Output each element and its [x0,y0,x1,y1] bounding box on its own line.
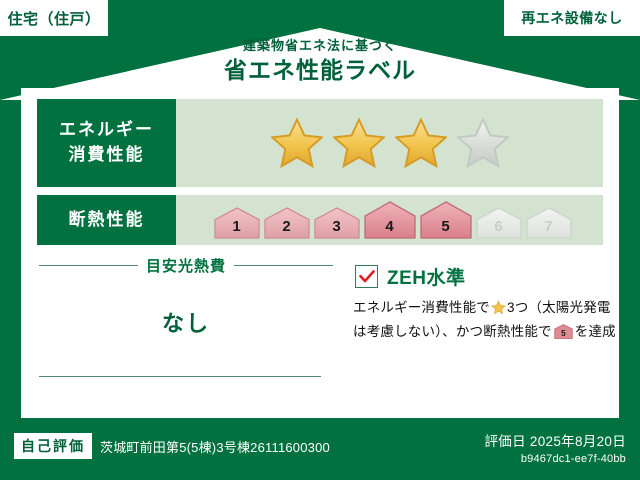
building-type-tab: 住宅（住戸） [0,0,108,36]
star-filled-icon [271,117,323,169]
star-filled-icon [395,117,447,169]
insulation-level-1: 1 [213,206,261,240]
energy-key-line1: エネルギー [59,118,154,143]
evaluation-date: 評価日 2025年8月20日 [484,430,626,450]
property-address: 茨城町前田第5(5棟)3号棟26111600300 [100,437,330,456]
zeh-checkbox[interactable] [355,265,378,288]
insulation-performance-row: 断熱性能 1234567 [37,195,603,245]
svg-text:5: 5 [561,329,566,338]
footer: 自己評価 茨城町前田第5(5棟)3号棟26111600300 評価日 2025年… [0,422,640,480]
energy-performance-label: 住宅（住戸） 再エネ設備なし 建築物省エネ法に基づく 省エネ性能ラベル エネルギ… [0,0,640,480]
insulation-level-7: 7 [525,206,573,240]
insulation-level-number: 4 [363,218,417,235]
insulation-level-number: 2 [263,218,311,235]
insulation-level-2: 2 [263,206,311,240]
inline-house-chip: 5 [554,324,573,346]
footer-right: 評価日 2025年8月20日 b9467dc1-ee7f-40bb [484,430,626,465]
utility-cost-value: なし [21,306,351,338]
insulation-level-number: 6 [475,218,523,235]
zeh-description: エネルギー消費性能で3つ（太陽光発電 は考慮しない）、かつ断熱性能で5を達成 [353,298,617,346]
inline-star-icon [491,303,506,318]
heading-rule-right [234,265,333,266]
insulation-level-6: 6 [475,206,523,240]
heading-rule-left [39,265,138,266]
zeh-desc-part3: を達成 [575,324,616,339]
utility-cost-bottom-rule [39,376,321,377]
zeh-desc-part1: エネルギー消費性能で [353,300,490,315]
insulation-level-5: 5 [419,200,473,240]
insulation-level-number: 5 [419,218,473,235]
star-filled-icon [333,117,385,169]
utility-cost-title: 目安光熱費 [146,255,226,276]
star-empty-icon [457,117,509,169]
insulation-level-3: 3 [313,206,361,240]
star-list [271,117,509,169]
lower-section: 目安光熱費 なし ZEH水準 エネルギー消費性能で3つ（太陽光発電 [21,251,619,401]
utility-cost-block: 目安光熱費 なし [21,251,351,401]
evaluation-id: b9467dc1-ee7f-40bb [484,453,626,465]
zeh-desc-part2: は考慮しない）、かつ断熱性能で [353,324,552,339]
energy-star-rating [176,99,603,187]
energy-performance-label-key: エネルギー 消費性能 [37,99,176,187]
insulation-performance-label-key: 断熱性能 [37,195,176,245]
energy-key-line2: 消費性能 [69,143,145,168]
insulation-scale: 1234567 [176,195,603,245]
insulation-level-4: 4 [363,200,417,240]
utility-cost-heading: 目安光熱費 [39,255,333,276]
self-evaluation-badge: 自己評価 [14,433,92,459]
footer-left: 自己評価 茨城町前田第5(5棟)3号棟26111600300 [14,433,330,459]
label-panel: エネルギー 消費性能 断熱性能 1234567 目安光熱費 なし [21,88,619,418]
insulation-level-number: 1 [213,218,261,235]
insulation-level-number: 7 [525,218,573,235]
energy-performance-row: エネルギー 消費性能 [37,99,603,187]
zeh-block: ZEH水準 エネルギー消費性能で3つ（太陽光発電 は考慮しない）、かつ断熱性能で… [351,251,619,401]
insulation-level-number: 3 [313,218,361,235]
zeh-heading: ZEH水準 [355,263,619,290]
zeh-title: ZEH水準 [387,263,466,290]
renewable-energy-tab: 再エネ設備なし [504,0,640,36]
zeh-desc-stars: 3つ（太陽光発電 [507,300,611,315]
house-level-list: 1234567 [207,200,573,240]
